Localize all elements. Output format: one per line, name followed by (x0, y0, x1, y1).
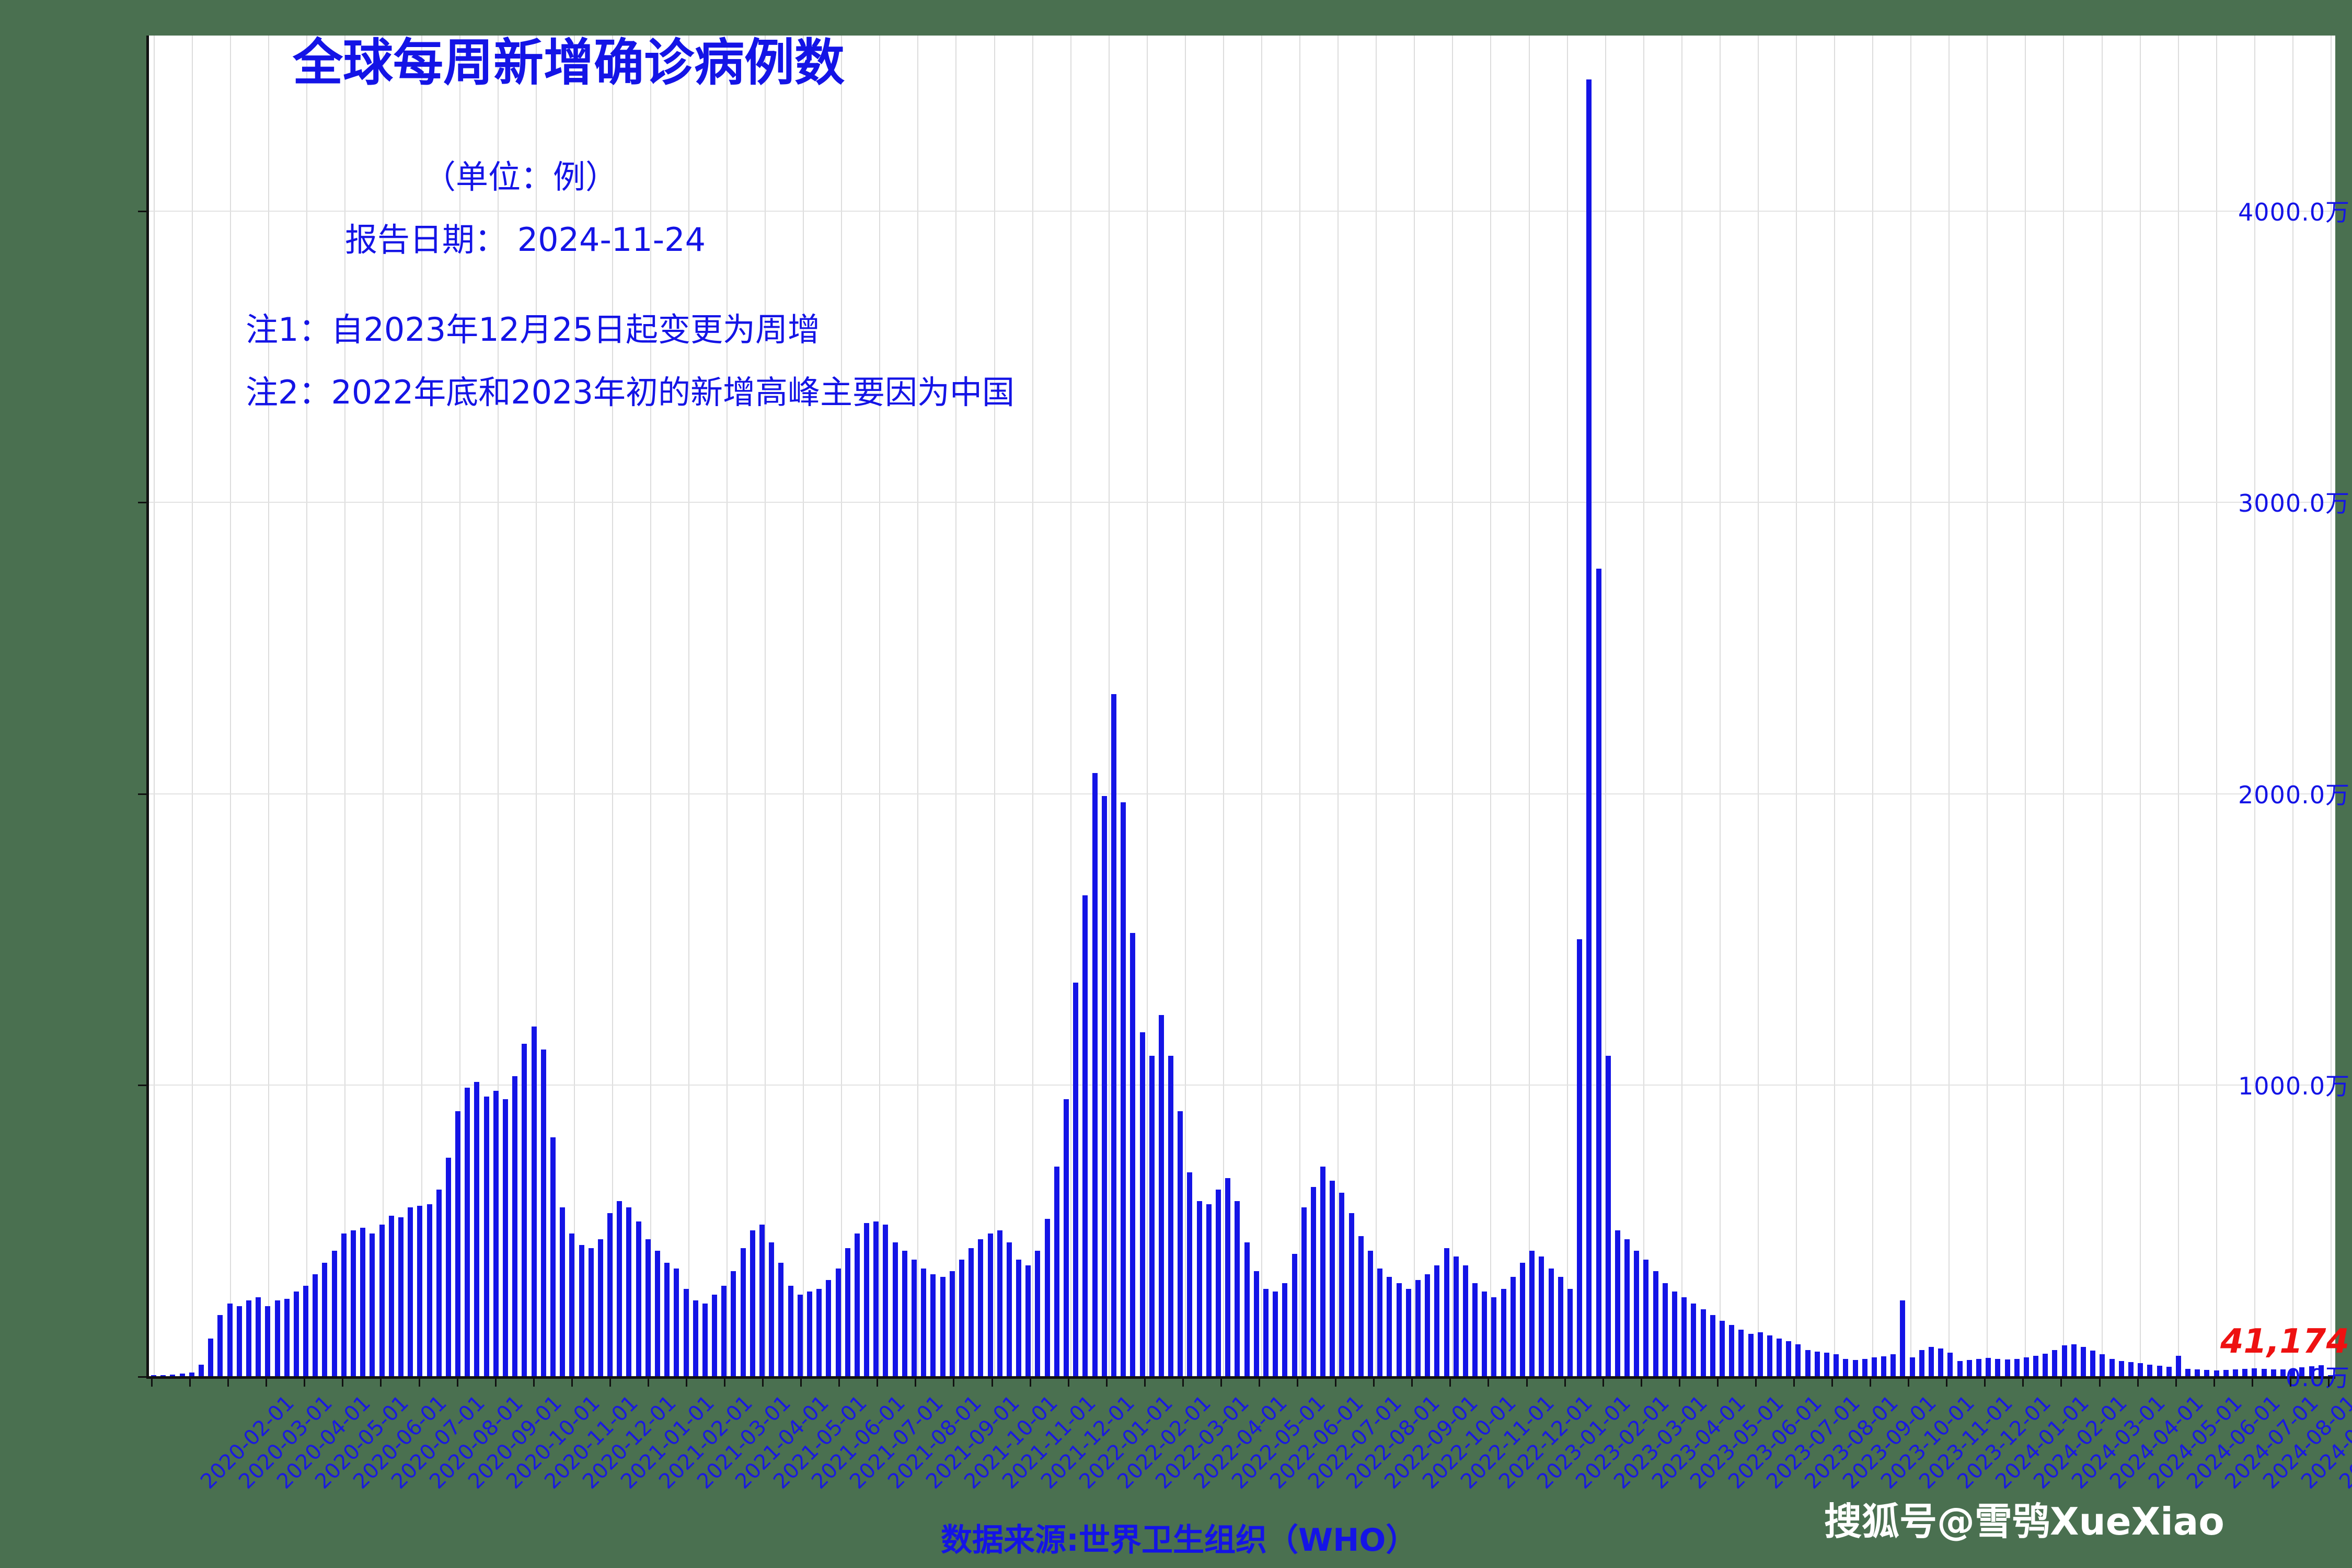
x-axis-tick (915, 1376, 916, 1387)
gridline-vertical (1490, 36, 1491, 1376)
gridline-vertical (268, 36, 269, 1376)
x-axis-tick (1030, 1376, 1031, 1387)
gridline-vertical (1376, 36, 1377, 1376)
bar (1586, 79, 1592, 1376)
x-axis-tick (1144, 1376, 1146, 1387)
bar (2157, 1366, 2162, 1376)
x-axis-tick (380, 1376, 382, 1387)
x-axis-tick (1106, 1376, 1108, 1387)
bar (1501, 1289, 1506, 1376)
bar (569, 1233, 574, 1376)
x-axis-tick (1220, 1376, 1222, 1387)
gridline-vertical (917, 36, 918, 1376)
gridline-vertical (2102, 36, 2103, 1376)
bar (1454, 1256, 1459, 1376)
x-axis-tick (1182, 1376, 1184, 1387)
gridline-vertical (1910, 36, 1911, 1376)
bar (1947, 1353, 1953, 1376)
x-axis-tick (1908, 1376, 1909, 1387)
bar (170, 1375, 175, 1376)
x-axis-tick (1526, 1376, 1528, 1387)
bar (1425, 1274, 1430, 1376)
y-axis-tick-label: 1000.0万 (2206, 1067, 2350, 1102)
bar (284, 1299, 290, 1376)
bar (655, 1251, 660, 1376)
gridline-vertical (1949, 36, 1950, 1376)
x-axis-tick (1717, 1376, 1719, 1387)
y-axis-tick-label: 3000.0万 (2206, 485, 2350, 519)
bar (379, 1225, 385, 1376)
bar (978, 1239, 983, 1376)
bar (1168, 1056, 1173, 1376)
bar (275, 1300, 280, 1376)
bar (1216, 1190, 1221, 1376)
x-axis-tick (419, 1376, 420, 1387)
bar (930, 1274, 936, 1376)
gridline-vertical (421, 36, 422, 1376)
gridline-vertical (727, 36, 728, 1376)
bar (579, 1245, 584, 1376)
bar (1330, 1181, 1335, 1376)
bar (1387, 1277, 1392, 1376)
y-axis-tick (138, 1085, 147, 1086)
bar (1834, 1354, 1839, 1376)
x-axis-tick (1793, 1376, 1795, 1387)
bar (2166, 1367, 2172, 1376)
bar (1301, 1207, 1307, 1376)
x-axis-tick (1259, 1376, 1260, 1387)
bar (759, 1225, 765, 1376)
gridline-vertical (1567, 36, 1568, 1376)
bar (1900, 1300, 1905, 1376)
bar (1377, 1269, 1382, 1376)
bar (1197, 1201, 1202, 1376)
bar (1244, 1242, 1250, 1377)
gridline-vertical (1414, 36, 1415, 1376)
x-axis-tick (1679, 1376, 1680, 1387)
x-axis-tick (1755, 1376, 1757, 1387)
gridline-vertical (1299, 36, 1300, 1376)
bar (1529, 1251, 1535, 1376)
bar (1187, 1172, 1192, 1376)
bar (1596, 569, 1601, 1376)
bar (1482, 1292, 1487, 1376)
bar (750, 1230, 755, 1376)
bar (1815, 1352, 1820, 1376)
bar (1520, 1263, 1525, 1376)
bar (1710, 1315, 1715, 1376)
bar (1358, 1236, 1364, 1376)
bar (2014, 1359, 2020, 1376)
bar (1444, 1248, 1449, 1376)
gridline-vertical (1261, 36, 1262, 1376)
gridline-vertical (879, 36, 880, 1376)
bar (1463, 1265, 1468, 1376)
gridline-vertical (1758, 36, 1759, 1376)
x-axis-tick (304, 1376, 305, 1387)
bar (474, 1082, 479, 1376)
x-axis-tick (571, 1376, 573, 1387)
gridline-vertical (2292, 36, 2293, 1376)
x-axis-tick (2252, 1376, 2253, 1387)
bar (1073, 983, 1078, 1376)
bar (1624, 1239, 1630, 1376)
gridline-vertical (1872, 36, 1873, 1376)
bar (1691, 1304, 1696, 1376)
bar (1254, 1271, 1259, 1376)
gridline-vertical (230, 36, 231, 1376)
bar (845, 1248, 850, 1376)
bar (1872, 1357, 1877, 1376)
bar (598, 1239, 603, 1376)
x-axis-tick (189, 1376, 191, 1387)
gridline-vertical (344, 36, 345, 1376)
gridline-vertical (955, 36, 956, 1376)
bar (921, 1269, 926, 1376)
gridline-horizontal (149, 502, 2335, 503)
gridline-vertical (1147, 36, 1148, 1376)
bar (541, 1050, 546, 1376)
bar (2138, 1363, 2143, 1376)
bar (1767, 1335, 1772, 1376)
bar (1643, 1260, 1648, 1376)
bar (626, 1207, 631, 1376)
bar (303, 1286, 308, 1376)
bar (950, 1271, 955, 1376)
bar (227, 1304, 233, 1376)
bar (969, 1248, 974, 1376)
bar (1292, 1254, 1297, 1376)
bar (1681, 1297, 1687, 1376)
bar (237, 1306, 242, 1376)
x-axis-tick (1488, 1376, 1489, 1387)
x-axis-tick (2213, 1376, 2215, 1387)
chart-page: 0.0万1000.0万2000.0万3000.0万4000.0万 2020-02… (0, 0, 2352, 1568)
bar (617, 1201, 622, 1376)
bar (798, 1295, 803, 1376)
gridline-vertical (1720, 36, 1721, 1376)
bar (2090, 1351, 2095, 1376)
bar (2033, 1356, 2038, 1376)
gridline-vertical (192, 36, 193, 1376)
x-axis-tick (151, 1376, 153, 1387)
bar (351, 1230, 356, 1376)
bar (1111, 694, 1116, 1376)
x-axis-tick (762, 1376, 764, 1387)
gridline-vertical (841, 36, 842, 1376)
bar (2043, 1354, 2048, 1376)
bar (550, 1137, 556, 1376)
gridline-vertical (765, 36, 766, 1376)
source-note: 数据来源:世界卫生组织（WHO） (941, 1515, 1417, 1560)
bar (199, 1365, 204, 1376)
bar (2052, 1350, 2057, 1376)
x-axis-tick (457, 1376, 458, 1387)
bar (1862, 1359, 1867, 1376)
bar (1615, 1230, 1620, 1376)
x-axis-tick (2099, 1376, 2101, 1387)
bar (1995, 1359, 2000, 1376)
bar (1082, 895, 1088, 1376)
bar (484, 1097, 489, 1376)
bar (1720, 1321, 1725, 1376)
bar (1786, 1341, 1791, 1376)
bar (1795, 1344, 1801, 1376)
bar (1729, 1325, 1734, 1376)
gridline-vertical (574, 36, 575, 1376)
x-axis-tick (1411, 1376, 1413, 1387)
bar (1491, 1297, 1496, 1376)
bar (1853, 1360, 1858, 1376)
bar (408, 1207, 413, 1376)
bar (2081, 1347, 2086, 1376)
bar (313, 1274, 318, 1376)
bar (1273, 1292, 1278, 1376)
bar (1824, 1353, 1829, 1376)
bar (636, 1221, 641, 1376)
bar (360, 1228, 365, 1376)
x-axis-tick (1068, 1376, 1069, 1387)
bar (294, 1292, 299, 1376)
bar (873, 1221, 879, 1376)
bar (532, 1027, 537, 1376)
bar (246, 1300, 251, 1376)
gridline-vertical (994, 36, 995, 1376)
gridline-vertical (2178, 36, 2179, 1376)
bar (1701, 1309, 1706, 1376)
bar (417, 1206, 422, 1376)
bar (1910, 1357, 1915, 1376)
bar (341, 1233, 347, 1376)
gridline-vertical (1834, 36, 1835, 1376)
bar (1549, 1269, 1554, 1376)
gridline-horizontal (149, 211, 2335, 212)
x-axis-tick (648, 1376, 649, 1387)
bar (1320, 1167, 1325, 1376)
bar (684, 1289, 689, 1376)
gridline-vertical (2140, 36, 2141, 1376)
bar (589, 1248, 594, 1376)
gridline-vertical (1109, 36, 1110, 1376)
bar (265, 1306, 270, 1376)
bar (189, 1373, 194, 1376)
y-axis-tick (138, 211, 147, 212)
x-axis-tick (1297, 1376, 1298, 1387)
gridline-horizontal (149, 793, 2335, 794)
gridline-vertical (1070, 36, 1071, 1376)
bar (436, 1190, 442, 1376)
bar (1149, 1056, 1155, 1376)
gridline-vertical (154, 36, 155, 1376)
bar (217, 1315, 223, 1376)
x-axis-tick (686, 1376, 687, 1387)
bar (1339, 1193, 1344, 1376)
bar (693, 1300, 698, 1376)
x-axis-tick (953, 1376, 954, 1387)
gridline-vertical (2254, 36, 2255, 1376)
bar (836, 1269, 841, 1376)
bar (160, 1375, 166, 1376)
bar (741, 1248, 746, 1376)
bar (1045, 1219, 1050, 1376)
gridline-vertical (306, 36, 307, 1376)
bar (2119, 1361, 2124, 1376)
bar (465, 1088, 470, 1376)
gridline-vertical (1338, 36, 1339, 1376)
bar (1748, 1334, 1754, 1376)
bar (1938, 1348, 1943, 1376)
gridline-vertical (2216, 36, 2217, 1376)
bar (180, 1374, 185, 1376)
x-axis-tick (1564, 1376, 1566, 1387)
x-axis-tick (2175, 1376, 2177, 1387)
bar (2147, 1365, 2152, 1376)
gridline-vertical (650, 36, 651, 1376)
bar (1758, 1332, 1763, 1376)
x-axis-tick (609, 1376, 611, 1387)
bar (1663, 1283, 1668, 1376)
y-axis-tick-label: 2000.0万 (2206, 776, 2350, 811)
gridline-vertical (1529, 36, 1530, 1376)
plot-area (146, 36, 2335, 1379)
bar (1178, 1111, 1183, 1376)
bar (2195, 1369, 2200, 1376)
bar (1434, 1265, 1439, 1376)
x-axis-tick (1373, 1376, 1375, 1387)
x-axis-tick (266, 1376, 267, 1387)
bar (988, 1233, 993, 1376)
bar (522, 1044, 527, 1376)
bar (664, 1263, 670, 1376)
bar (455, 1111, 460, 1376)
bar (1957, 1361, 1963, 1376)
bar (712, 1295, 717, 1376)
bar (1092, 773, 1098, 1376)
gridline-vertical (2331, 36, 2332, 1376)
gridline-vertical (1032, 36, 1033, 1376)
bar (1843, 1359, 1848, 1376)
bar (912, 1260, 917, 1376)
x-axis-tick (838, 1376, 840, 1387)
bar (1738, 1330, 1744, 1376)
gridline-vertical (1223, 36, 1224, 1376)
bar (1672, 1292, 1677, 1376)
bar (560, 1207, 565, 1376)
bar (2100, 1354, 2105, 1376)
bar (1967, 1360, 1972, 1376)
gridline-vertical (383, 36, 384, 1376)
gridline-vertical (612, 36, 613, 1376)
bar (902, 1251, 907, 1376)
x-axis-tick (227, 1376, 229, 1387)
bar (1653, 1271, 1658, 1376)
bar (2128, 1362, 2134, 1376)
bar (893, 1242, 898, 1377)
y-axis-tick (138, 502, 147, 503)
bar (702, 1304, 708, 1376)
bar (674, 1269, 679, 1376)
bar (1558, 1277, 1563, 1376)
x-axis-tick (1449, 1376, 1451, 1387)
x-axis-tick (495, 1376, 497, 1387)
bar (1025, 1265, 1031, 1376)
bar (1397, 1283, 1402, 1376)
bar (645, 1239, 651, 1376)
bar (1415, 1280, 1421, 1376)
bar (1140, 1032, 1145, 1376)
y-axis-tick (138, 793, 147, 795)
bar (322, 1263, 327, 1376)
x-axis-tick (2328, 1376, 2330, 1387)
x-axis-tick (1641, 1376, 1642, 1387)
bar (731, 1271, 736, 1376)
bar (1225, 1178, 1230, 1376)
bar (1102, 796, 1107, 1376)
bar (1206, 1204, 1212, 1376)
bar (1054, 1167, 1059, 1376)
bar (1007, 1242, 1012, 1377)
bar (2185, 1369, 2190, 1376)
bar (807, 1292, 812, 1376)
bar (1368, 1251, 1373, 1376)
bar (1567, 1289, 1573, 1376)
bar (1890, 1354, 1896, 1376)
bar (2109, 1359, 2115, 1376)
last-value-label: 41,174 (2220, 1322, 2349, 1361)
watermark: 搜狐号@雪鸮XueXiao (1824, 1491, 2224, 1546)
bar (503, 1099, 508, 1376)
bar (208, 1339, 213, 1376)
bar (607, 1213, 613, 1376)
gridline-vertical (1643, 36, 1644, 1376)
bar (398, 1217, 403, 1376)
x-axis-tick (1870, 1376, 1871, 1387)
gridline-vertical (2025, 36, 2026, 1376)
bar (940, 1277, 946, 1376)
bar (1919, 1350, 1924, 1376)
x-axis-tick (2290, 1376, 2291, 1387)
bar (427, 1204, 432, 1376)
bar (1311, 1187, 1316, 1376)
bar (1121, 802, 1126, 1376)
x-axis-tick (2022, 1376, 2024, 1387)
bar (1511, 1277, 1516, 1376)
y-axis-tick (138, 1376, 147, 1378)
bar (1929, 1347, 1934, 1376)
bar (997, 1230, 1002, 1376)
gridline-vertical (1681, 36, 1682, 1376)
bar (1349, 1213, 1354, 1376)
gridline-vertical (688, 36, 689, 1376)
gridline-vertical (803, 36, 804, 1376)
bar (1986, 1358, 1991, 1376)
bar (1606, 1056, 1611, 1376)
bar (769, 1242, 774, 1377)
bar (1016, 1260, 1021, 1376)
x-axis-tick (342, 1376, 343, 1387)
bar (959, 1260, 964, 1376)
bar (493, 1091, 499, 1376)
x-axis-tick (1831, 1376, 1833, 1387)
bar (1035, 1251, 1040, 1376)
x-axis-tick (1335, 1376, 1336, 1387)
bar (512, 1076, 517, 1376)
bar (332, 1251, 337, 1376)
bar (2005, 1359, 2010, 1376)
bar (1976, 1359, 1981, 1376)
bar (1577, 939, 1582, 1376)
bar (1805, 1350, 1811, 1376)
